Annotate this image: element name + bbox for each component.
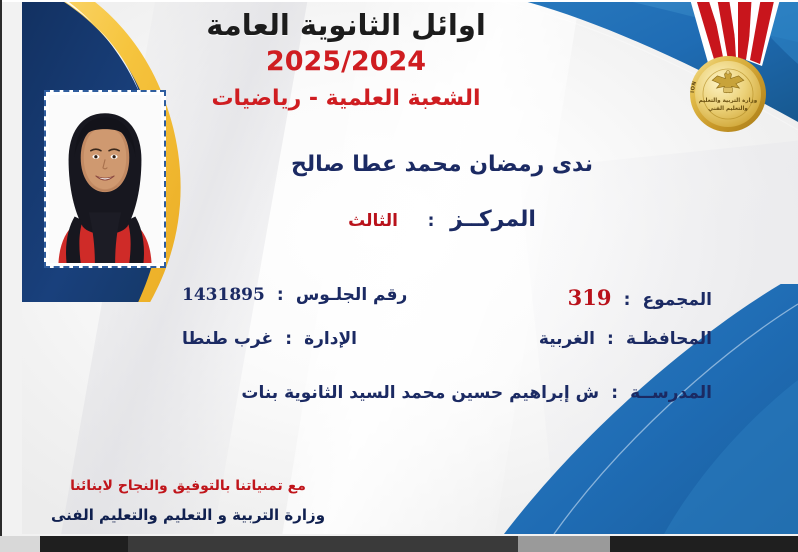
- certificate-screenshot: MINISTRY OF EDUCATION AND TECHNICAL EDUC…: [0, 0, 798, 552]
- school-value: ش إبراهيم حسين محمد السيد الثانوية بنات: [241, 383, 599, 403]
- school-field: المدرســة : ش إبراهيم حسين محمد السيد ال…: [241, 383, 712, 403]
- taskbar-segment-right[interactable]: [518, 536, 610, 552]
- seat-label: رقم الجلـوس: [296, 285, 408, 305]
- governorate-separator: :: [607, 329, 614, 349]
- rank-separator: :: [428, 211, 435, 231]
- total-field: المجموع : 319: [568, 285, 712, 310]
- seat-separator: :: [277, 285, 284, 305]
- seat-value: 1431895: [182, 285, 265, 305]
- footer-ministry: وزارة التربية و التعليم والتعليم الفنى: [28, 506, 348, 524]
- rank-label: المركــز: [450, 207, 536, 232]
- administration-value: غرب طنطا: [182, 329, 273, 349]
- window-left-edge: [0, 0, 2, 536]
- page-title: اوائل الثانوية العامة: [22, 8, 670, 42]
- student-name: ندى رمضان محمد عطا صالح: [162, 152, 722, 177]
- student-photo: [49, 95, 161, 263]
- total-separator: :: [624, 290, 631, 310]
- taskbar-segment-left[interactable]: [0, 536, 40, 552]
- governorate-label: المحافظـة: [626, 329, 712, 349]
- row-total-and-seat: المجموع : 319 رقم الجلـوس : 1431895: [182, 285, 712, 319]
- school-separator: :: [611, 383, 618, 403]
- section-subtitle: الشعبة العلمية - رياضيات: [22, 86, 670, 111]
- seat-field: رقم الجلـوس : 1431895: [182, 285, 407, 305]
- school-label: المدرســة: [630, 383, 712, 403]
- row-governorate-and-administration: المحافظـة : الغربية الإدارة : غرب طنطا: [182, 329, 712, 363]
- medal-center-line2: والتعليم الفني: [708, 106, 748, 112]
- academic-year: 2025/2024: [22, 46, 670, 77]
- administration-separator: :: [285, 329, 292, 349]
- total-label: المجموع: [642, 290, 712, 310]
- governorate-field: المحافظـة : الغربية: [539, 329, 712, 349]
- taskbar-segment-middle[interactable]: [128, 536, 518, 552]
- total-value: 319: [568, 285, 612, 310]
- footer-wish: مع تمنياتنا بالتوفيق والنجاح لابنائنا: [28, 478, 348, 494]
- os-taskbar[interactable]: [0, 536, 798, 552]
- rank-value: الثالث: [348, 211, 398, 231]
- governorate-value: الغربية: [539, 329, 595, 349]
- ministry-medal: MINISTRY OF EDUCATION AND TECHNICAL EDUC…: [658, 2, 798, 134]
- administration-label: الإدارة: [304, 329, 357, 349]
- certificate-card: MINISTRY OF EDUCATION AND TECHNICAL EDUC…: [22, 2, 798, 534]
- medal-center-line1: وزارة التربية والتعليم: [699, 98, 758, 104]
- rank-line: المركــز : الثالث: [162, 207, 722, 232]
- row-school: المدرســة : ش إبراهيم حسين محمد السيد ال…: [182, 383, 712, 417]
- student-photo-frame: [44, 90, 166, 268]
- administration-field: الإدارة : غرب طنطا: [182, 329, 357, 349]
